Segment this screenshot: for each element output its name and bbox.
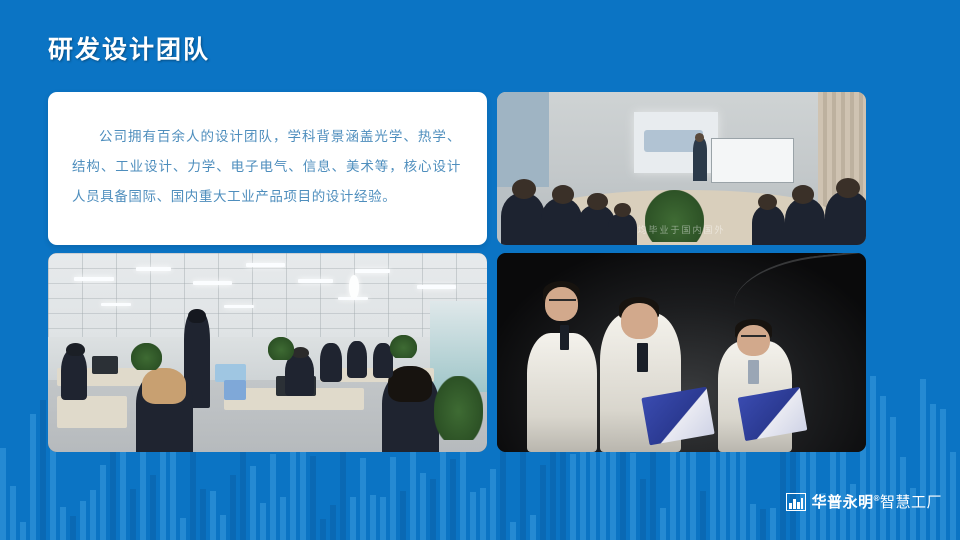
background-bar (330, 505, 336, 540)
brand-suffix: 智慧工厂 (880, 494, 942, 511)
background-bar (80, 501, 86, 540)
background-bar (470, 492, 476, 540)
background-bar (270, 454, 276, 540)
background-bar (620, 452, 626, 540)
background-bar (50, 448, 56, 540)
background-bar (420, 473, 426, 540)
background-bar (180, 518, 186, 540)
background-bar (190, 441, 196, 540)
background-bar (920, 379, 926, 540)
background-bar (570, 454, 576, 540)
background-bar (20, 522, 26, 540)
office-illustration (48, 253, 487, 452)
background-bar (70, 516, 76, 540)
background-bar (260, 503, 266, 540)
background-bar (100, 465, 106, 540)
background-bar (950, 452, 956, 540)
brand-name: 华普永明 (812, 494, 874, 511)
background-bar (210, 491, 216, 540)
background-bar (770, 508, 776, 540)
background-bar (630, 453, 636, 540)
background-bar (460, 437, 466, 540)
background-bar (370, 495, 376, 540)
intro-text-body: 公司拥有百余人的设计团队，学科背景涵盖光学、热学、结构、工业设计、力学、电子电气… (72, 122, 461, 212)
background-bar (380, 497, 386, 540)
hpym-logo-icon (786, 493, 806, 511)
background-bar (30, 414, 36, 540)
meeting-room-photo: 均毕业于国内国外 (497, 92, 866, 245)
background-bar (400, 491, 406, 540)
background-bar (200, 489, 206, 540)
background-bar (540, 465, 546, 540)
background-bar (660, 508, 666, 540)
background-bar (610, 451, 616, 540)
background-bar (450, 459, 456, 540)
background-bar (490, 469, 496, 540)
lab-illustration (497, 253, 866, 452)
page-title: 研发设计团队 (48, 30, 210, 66)
background-bar (350, 497, 356, 540)
background-bar (890, 417, 896, 540)
background-bar (940, 409, 946, 540)
background-bar (250, 466, 256, 540)
background-bar (430, 479, 436, 540)
lab-photo (497, 253, 866, 452)
background-bar (480, 488, 486, 540)
background-bar (600, 442, 606, 540)
background-bar (530, 515, 536, 540)
background-bar (60, 507, 66, 540)
intro-text-card: 公司拥有百余人的设计团队，学科背景涵盖光学、热学、结构、工业设计、力学、电子电气… (48, 92, 487, 245)
brand-logo: 华普永明®智慧工厂 (786, 491, 942, 512)
background-bar (930, 404, 936, 540)
background-bar (410, 445, 416, 540)
meeting-room-illustration: 均毕业于国内国外 (497, 92, 866, 245)
background-bar (360, 458, 366, 540)
brand-logo-text: 华普永明®智慧工厂 (812, 491, 942, 512)
background-bar (220, 515, 226, 540)
background-bar (280, 497, 286, 540)
background-bar (230, 475, 236, 540)
photo-watermark: 均毕业于国内国外 (497, 223, 866, 236)
background-bar (640, 479, 646, 540)
slide-root: 研发设计团队 公司拥有百余人的设计团队，学科背景涵盖光学、热学、结构、工业设计、… (0, 0, 960, 540)
background-bar (140, 447, 146, 540)
background-bar (510, 522, 516, 540)
background-bar (390, 457, 396, 540)
background-bar (300, 437, 306, 540)
background-bar (320, 519, 326, 540)
background-bar (870, 376, 876, 540)
background-bar (10, 486, 16, 540)
background-bar (310, 456, 316, 540)
background-bar (700, 491, 706, 540)
background-bar (650, 444, 656, 540)
background-bar (750, 504, 756, 540)
background-bar (0, 448, 6, 540)
background-bar (40, 400, 46, 540)
background-bar (130, 489, 136, 540)
background-bar (90, 490, 96, 540)
background-bar (880, 396, 886, 540)
background-bar (150, 475, 156, 540)
office-photo (48, 253, 487, 452)
background-bar (760, 509, 766, 540)
